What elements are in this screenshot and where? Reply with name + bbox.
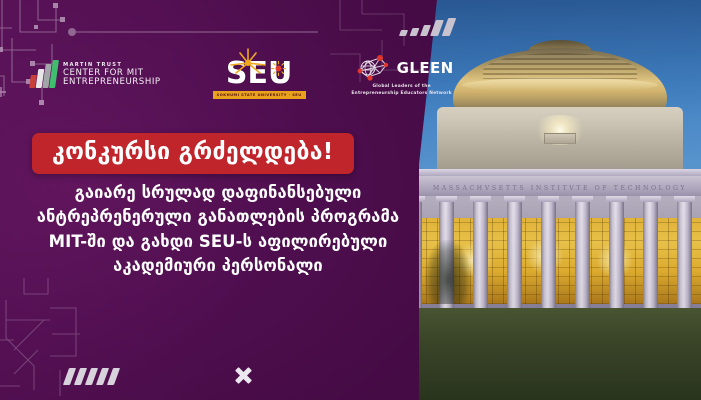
mit-wordmark: MARTIN TRUST CENTER FOR MIT ENTREPRENEUR… <box>63 63 161 86</box>
mit-bars-icon <box>30 62 57 88</box>
seu-star-icon <box>227 47 269 77</box>
seu-subtitle: SOKHUMI STATE UNIVERSITY · SEU <box>213 91 306 98</box>
slash-decor-bottom-left <box>66 368 117 385</box>
body-copy: გაიარე სრულად დაფინანსებული ანტრეპრენერუ… <box>0 181 436 278</box>
body-line-3: MIT-ში და გახდი SEU-ს აფილირებული <box>0 230 436 254</box>
promo-banner: MARTIN TRUST CENTER FOR MIT ENTREPRENEUR… <box>0 0 701 400</box>
gleen-wordmark: GLEEN <box>397 59 454 77</box>
logo-gleen: GLEEN Global Leaders of the Entrepreneur… <box>350 53 454 97</box>
logo-seu: SEU SOKHUMI STATE UNIVERSITY · SEU <box>213 47 306 103</box>
photo-overlay <box>419 0 701 400</box>
seu-sun-icon <box>271 61 286 76</box>
logo-row: MARTIN TRUST CENTER FOR MIT ENTREPRENEUR… <box>0 46 430 104</box>
mit-great-dome-photo: MASSACHVSETTS INSTITVTE OF TECHNOLOGY <box>419 0 701 400</box>
mit-logo-line3: ENTREPRENEURSHIP <box>63 78 161 87</box>
gleen-subtitle-line2: Entrepreneurship Educators Network <box>351 91 452 97</box>
body-line-2: ანტრეპრენერული განათლების პროგრამა <box>0 205 436 229</box>
gleen-network-icon <box>350 53 394 83</box>
logo-martin-trust-center: MARTIN TRUST CENTER FOR MIT ENTREPRENEUR… <box>30 62 161 88</box>
headline-text: კონკურსი გრძელდება! <box>52 140 334 165</box>
x-mark-icon <box>232 364 254 386</box>
body-line-1: გაიარე სრულად დაფინანსებული <box>0 181 436 205</box>
slash-decor-top-right <box>400 18 453 36</box>
body-line-4: აკადემიური პერსონალი <box>0 254 436 278</box>
headline-banner: კონკურსი გრძელდება! <box>32 133 354 174</box>
